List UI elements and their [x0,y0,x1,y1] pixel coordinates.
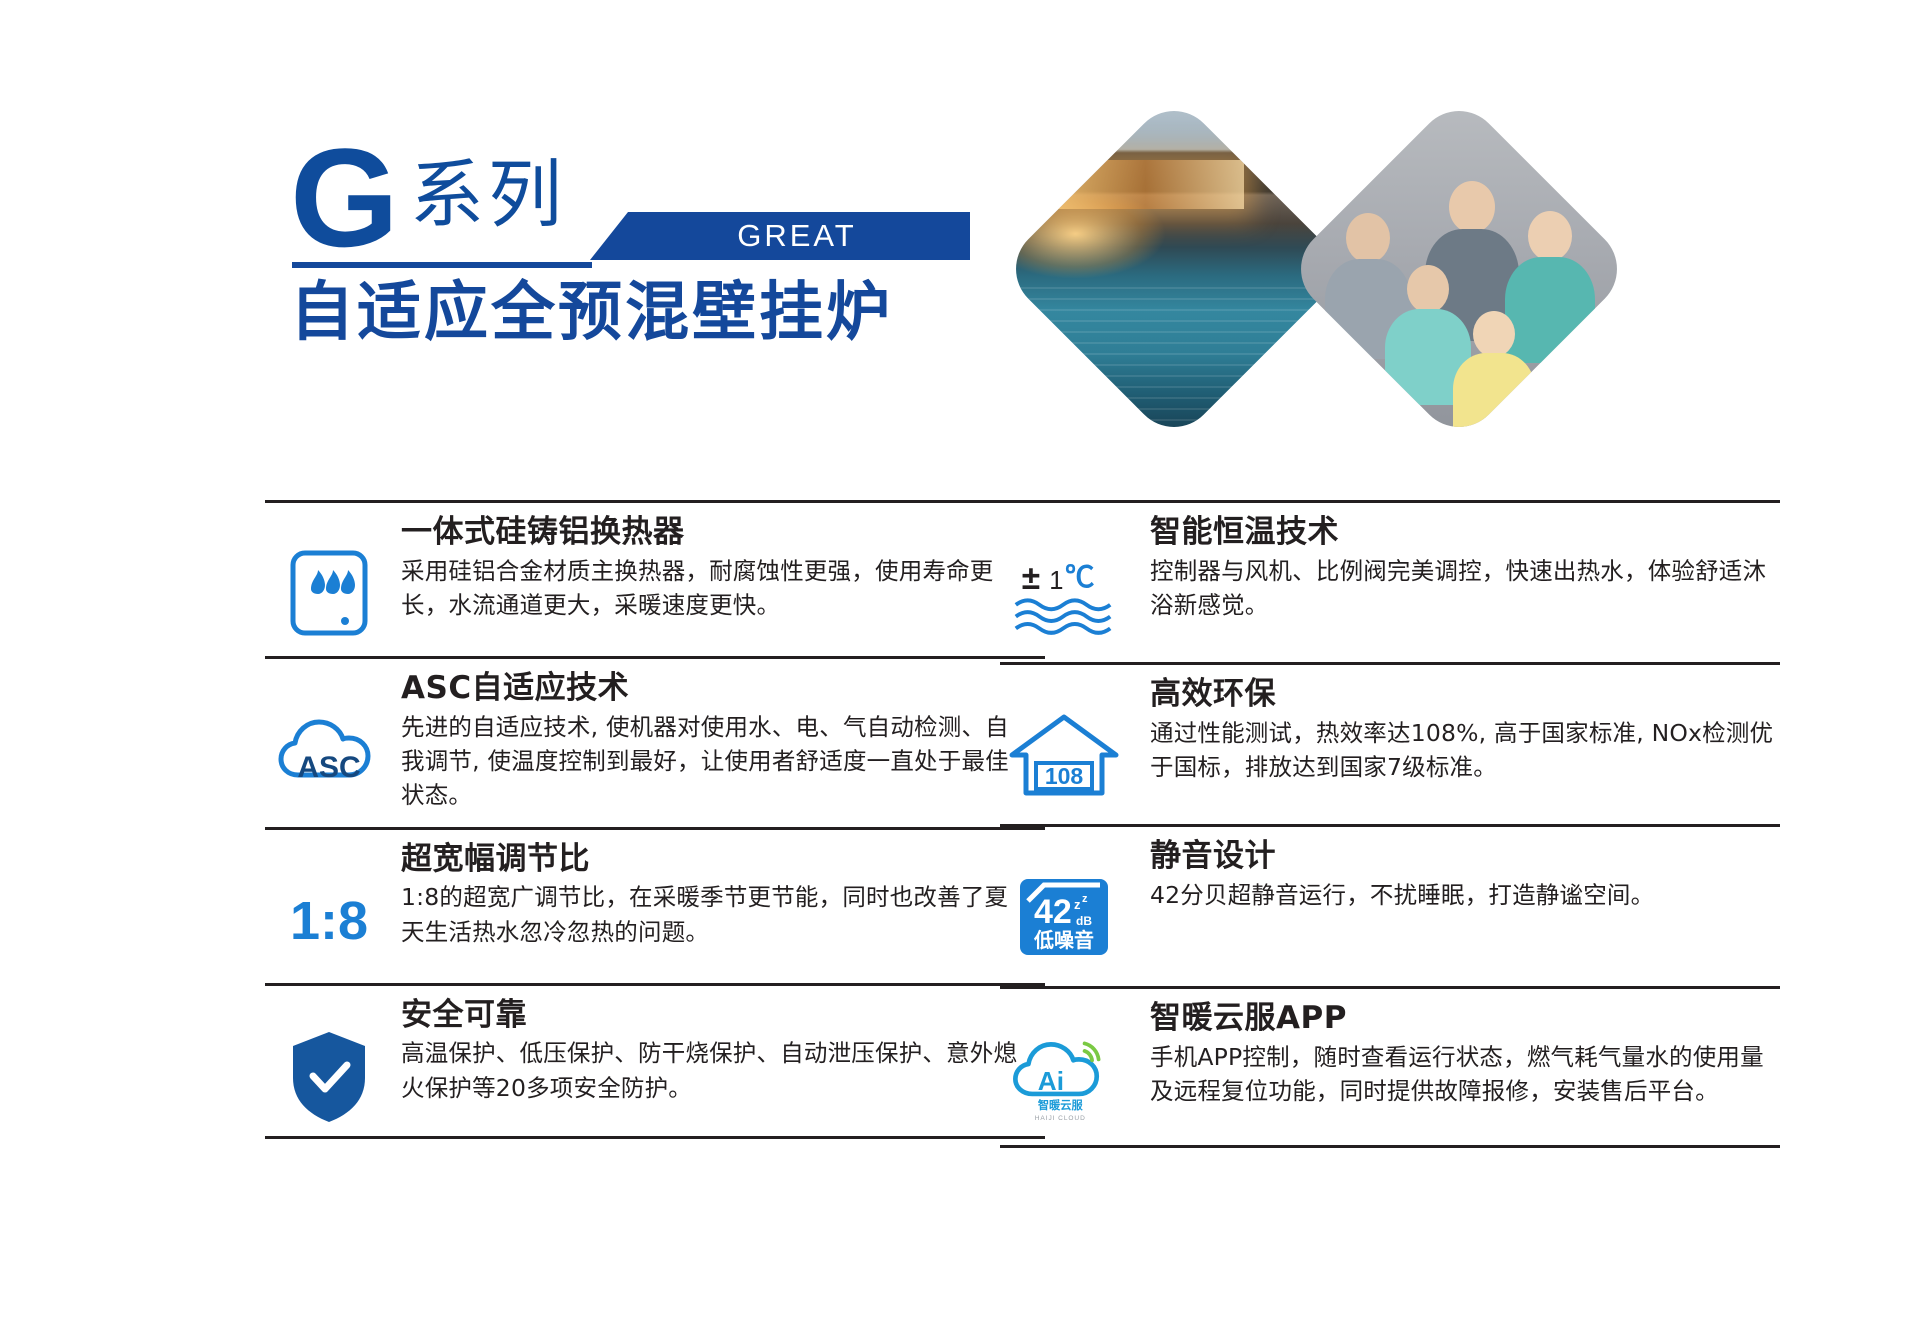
brand-block: G 系列 GREAT 自适应全预混壁挂炉 [290,150,970,268]
brand-row: G 系列 GREAT [290,150,970,268]
ratio-icon-label: 1:8 [290,891,368,951]
feature-safety: 安全可靠 高温保护、低压保护、防干烧保护、自动泄压保护、意外熄火保护等20多项安… [265,983,1045,1139]
feature-description: 1:8的超宽广调节比，在采暖季节更节能，同时也改善了夏天生活热水忽冷忽热的问题。 [401,880,1031,949]
feature-title: 安全可靠 [401,996,1045,1035]
feature-description: 高温保护、低压保护、防干烧保护、自动泄压保护、意外熄火保护等20多项安全防护。 [401,1036,1031,1105]
poster-header: G 系列 GREAT 自适应全预混壁挂炉 [0,0,1920,480]
ai-icon-label: Ai [1038,1066,1064,1096]
brand-series-label: 系列 [410,158,566,232]
svg-text:1: 1 [1049,567,1063,595]
svg-text:z: z [1082,893,1088,905]
feature-description: 42分贝超静音运行，不扰睡眠，打造静谧空间。 [1150,878,1780,912]
page-title: 自适应全预混壁挂炉 [290,278,893,348]
great-banner-label: GREAT [703,218,857,254]
feature-title: ASC自适应技术 [401,669,1045,708]
svg-text:z: z [1074,897,1081,912]
feature-high-efficiency: 108 高效环保 通过性能测试，热效率达108%, 高于国家标准, NOx检测优… [1000,662,1780,824]
feature-title: 智能恒温技术 [1150,513,1780,552]
noise-number-label: 42 [1034,893,1072,931]
asc-cloud-icon: ASC [271,697,387,801]
feature-quiet-design: 42 z z dB 低噪音 静音设计 42分贝超静音运行，不扰睡眠，打造静谧空间… [1000,824,1780,986]
asc-icon-label: ASC [297,751,360,784]
feature-title: 智暖云服APP [1150,999,1780,1038]
svg-text:℃: ℃ [1065,561,1094,594]
feature-title: 超宽幅调节比 [401,840,1045,879]
noise-unit-label: dB [1076,914,1092,928]
temperature-plus-minus-one-celsius-icon: ± 1 ℃ [1006,541,1122,645]
great-banner: GREAT [590,212,970,260]
feature-title: 静音设计 [1150,837,1780,876]
feature-column-left: 一体式硅铸铝换热器 采用硅铝合金材质主换热器，耐腐蚀性更强，使用寿命更长，水流通… [265,500,1045,1139]
efficiency-icon-label: 108 [1045,763,1084,789]
shield-check-icon [271,1024,387,1128]
app-en-label: HAIJI CLOUD [1035,1115,1086,1122]
feature-title: 一体式硅铸铝换热器 [401,513,1045,552]
feature-description: 控制器与风机、比例阀完美调控，快速出热水，体验舒适沐浴新感觉。 [1150,554,1780,623]
app-cn-label: 智暖云服 [1037,1098,1084,1112]
feature-cloud-app: Ai 智暖云服 HAIJI CLOUD 智暖云服APP 手机APP控制，随时查看… [1000,986,1780,1148]
feature-heat-exchanger: 一体式硅铸铝换热器 采用硅铝合金材质主换热器，耐腐蚀性更强，使用寿命更长，水流通… [265,500,1045,656]
feature-modulation-ratio: 1:8 超宽幅调节比 1:8的超宽广调节比，在采暖季节更节能，同时也改善了夏天生… [265,827,1045,983]
ratio-one-to-eight-icon: 1:8 [271,868,387,972]
brand-underline-rule [292,262,592,268]
feature-description: 通过性能测试，热效率达108%, 高于国家标准, NOx检测优于国标，排放达到国… [1150,716,1780,785]
ai-cloud-app-icon: Ai 智暖云服 HAIJI CLOUD [1006,1027,1122,1131]
feature-column-right: ± 1 ℃ 智能恒温技术 控制器与风机、比例阀完美调控，快速出热水，体验舒适沐浴… [1000,500,1780,1148]
burner-flames-icon [271,541,387,645]
low-noise-42db-icon: 42 z z dB 低噪音 [1006,865,1122,969]
feature-title: 高效环保 [1150,675,1780,714]
brand-letter-g: G [290,128,397,268]
happy-family-photo [1284,94,1635,445]
feature-description: 手机APP控制，随时查看运行状态，燃气耗气量水的使用量及远程复位功能，同时提供故… [1150,1040,1780,1109]
efficiency-108-house-icon: 108 [1006,703,1122,807]
feature-description: 采用硅铝合金材质主换热器，耐腐蚀性更强，使用寿命更长，水流通道更大，采暖速度更快… [401,554,1031,623]
feature-asc-adaptive: ASC ASC自适应技术 先进的自适应技术, 使机器对使用水、电、气自动检测、自… [265,656,1045,827]
product-feature-poster: G 系列 GREAT 自适应全预混壁挂炉 [0,0,1920,1318]
feature-smart-thermostat: ± 1 ℃ 智能恒温技术 控制器与风机、比例阀完美调控，快速出热水，体验舒适沐浴… [1000,500,1780,662]
svg-text:±: ± [1022,560,1040,597]
feature-description: 先进的自适应技术, 使机器对使用水、电、气自动检测、自我调节, 使温度控制到最好… [401,710,1031,813]
noise-text-label: 低噪音 [1033,928,1094,952]
hero-photos [1030,120,1610,420]
